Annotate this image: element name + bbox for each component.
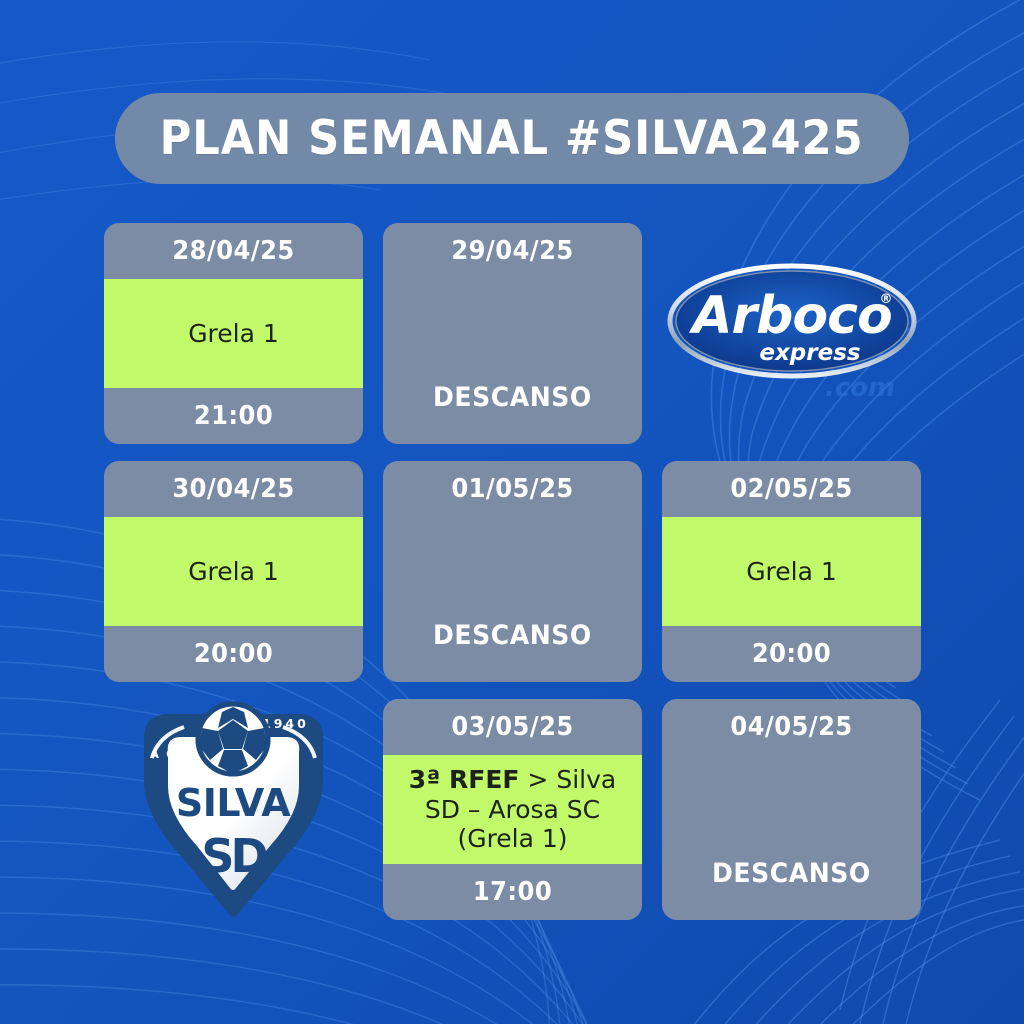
day-date: 01/05/25 (392, 461, 633, 517)
poster-root: PLAN SEMANAL #SILVA2425 28/04/25 Grela 1… (0, 0, 1024, 1024)
day-activity: DESCANSO (433, 382, 592, 414)
sponsor-wordmark: Arboco (688, 286, 891, 346)
day-activity: Grela 1 (188, 557, 279, 587)
day-date: 03/05/25 (392, 699, 633, 755)
competition-label: 3ª RFEF (409, 765, 520, 794)
registered-trademark-icon: ® (879, 292, 892, 307)
day-card[interactable]: 28/04/25 Grela 1 21:00 (104, 223, 363, 444)
day-activity-band: 3ª RFEF > Silva SD – Arosa SC (Grela 1) (383, 755, 642, 864)
day-activity-band: DESCANSO (662, 755, 921, 894)
silva-sd-crest: A CORUÑA 1940 SILVA SD (126, 694, 341, 926)
day-time: 21:00 (113, 388, 354, 444)
sponsor-tld-watermark: .com (824, 373, 894, 403)
arboco-express-logo: .com Arboco ® express (664, 259, 920, 409)
day-activity: Grela 1 (746, 557, 837, 587)
day-card-rest[interactable]: 04/05/25 DESCANSO (662, 699, 921, 920)
crest-initials: SD (201, 829, 266, 883)
day-date: 02/05/25 (671, 461, 912, 517)
day-cell-29-04-25: 29/04/25 DESCANSO (383, 223, 642, 444)
day-activity-band: Grela 1 (104, 279, 363, 388)
day-activity-band: Grela 1 (104, 517, 363, 626)
day-cell-02-05-25: 02/05/25 Grela 1 20:00 (662, 461, 921, 682)
day-cell-03-05-25: 03/05/25 3ª RFEF > Silva SD – Arosa SC (… (383, 699, 642, 920)
day-activity: DESCANSO (433, 620, 592, 652)
crest-club-name: SILVA (176, 781, 291, 825)
day-activity: DESCANSO (712, 858, 871, 890)
day-card[interactable]: 02/05/25 Grela 1 20:00 (662, 461, 921, 682)
day-date: 04/05/25 (671, 699, 912, 755)
page-title-banner: PLAN SEMANAL #SILVA2425 (115, 93, 909, 184)
day-activity-band: Grela 1 (662, 517, 921, 626)
day-date: 29/04/25 (392, 223, 633, 279)
day-cell-28-04-25: 28/04/25 Grela 1 21:00 (104, 223, 363, 444)
day-cell-01-05-25: 01/05/25 DESCANSO (383, 461, 642, 682)
sponsor-subwordmark: express (759, 340, 860, 366)
day-time: 20:00 (113, 626, 354, 682)
day-activity: Grela 1 (188, 319, 279, 349)
club-crest-cell: A CORUÑA 1940 SILVA SD (104, 699, 363, 920)
day-card-rest[interactable]: 01/05/25 DESCANSO (383, 461, 642, 682)
day-card[interactable]: 30/04/25 Grela 1 20:00 (104, 461, 363, 682)
day-cell-04-05-25: 04/05/25 DESCANSO (662, 699, 921, 920)
day-activity-band: DESCANSO (383, 279, 642, 418)
day-card-match[interactable]: 03/05/25 3ª RFEF > Silva SD – Arosa SC (… (383, 699, 642, 920)
day-card-rest[interactable]: 29/04/25 DESCANSO (383, 223, 642, 444)
sponsor-logo-cell: .com Arboco ® express (662, 223, 921, 444)
day-time: 20:00 (671, 626, 912, 682)
weekly-plan-grid: 28/04/25 Grela 1 21:00 29/04/25 DESCANSO (104, 223, 921, 921)
match-description: 3ª RFEF > Silva SD – Arosa SC (Grela 1) (391, 765, 634, 854)
day-date: 28/04/25 (113, 223, 354, 279)
page-title: PLAN SEMANAL #SILVA2425 (160, 111, 864, 166)
day-date: 30/04/25 (113, 461, 354, 517)
day-time: 17:00 (392, 864, 633, 920)
day-cell-30-04-25: 30/04/25 Grela 1 20:00 (104, 461, 363, 682)
day-activity-band: DESCANSO (383, 517, 642, 656)
